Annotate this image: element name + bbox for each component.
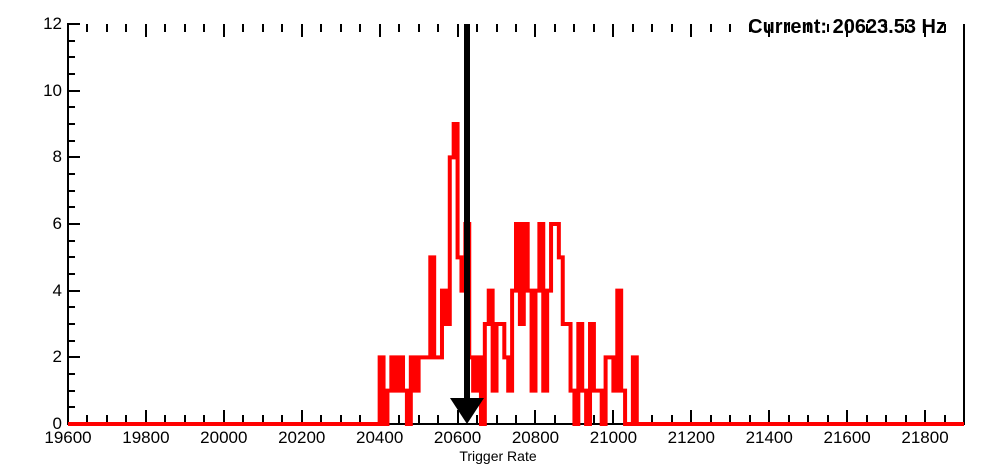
histogram-outline <box>68 124 964 424</box>
x-axis-title: Trigger Rate <box>0 448 996 464</box>
current-rate-arrow-line <box>464 24 470 400</box>
trigger-rate-histogram-panel: Current: 20623.53 Hz 0246810121960019800… <box>0 0 996 472</box>
histogram-plot <box>0 0 996 472</box>
current-rate-arrow-head <box>450 398 484 424</box>
